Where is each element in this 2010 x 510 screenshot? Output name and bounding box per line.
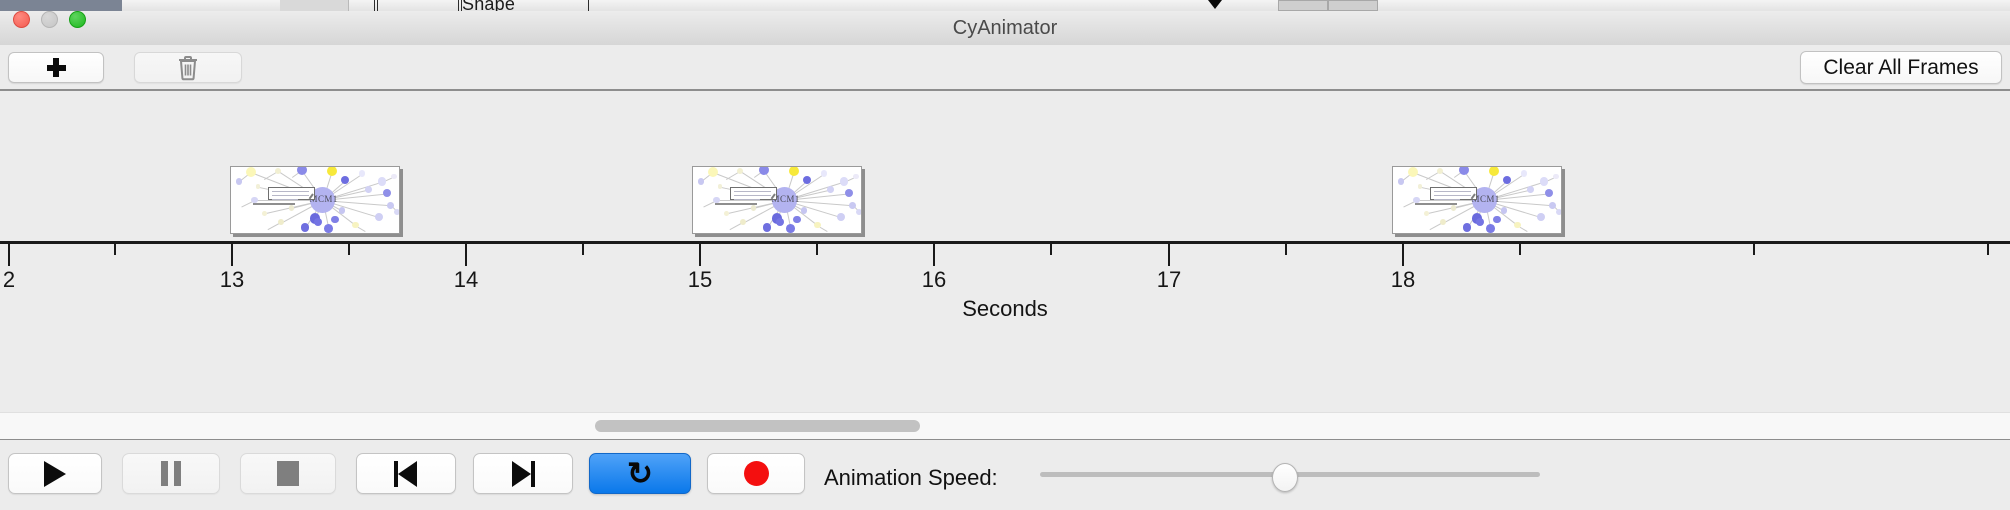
graph-node (801, 207, 808, 214)
background-window-divider (458, 0, 459, 11)
ruler-tick-label: 18 (1391, 267, 1415, 293)
graph-node (391, 174, 396, 179)
annotation-text-line (272, 195, 309, 197)
playback-bar: ↻ Animation Speed: (0, 440, 2010, 510)
background-window-tab (314, 0, 349, 11)
graph-node (751, 205, 756, 210)
graph-node (1486, 224, 1495, 233)
graph-node (275, 168, 281, 174)
loop-button[interactable]: ↻ (589, 453, 691, 494)
graph-node (1521, 170, 1528, 177)
graph-node (378, 177, 386, 185)
graph-node (327, 166, 337, 176)
graph-node (352, 222, 359, 229)
ruler-tick-major (699, 244, 701, 266)
graph-node (1549, 202, 1556, 209)
graph-node (698, 178, 704, 184)
ruler-tick-label: 2 (3, 267, 15, 293)
graph-node (1514, 222, 1521, 229)
annotation-text-line (734, 195, 771, 197)
skip-back-icon (394, 461, 418, 487)
graph-node (1501, 207, 1508, 214)
timeline-panel[interactable]: MCM1MCM1MCM1 2131415161718 Seconds (0, 91, 2010, 412)
graph-node (814, 222, 821, 229)
ruler-tick-major (933, 244, 935, 266)
graph-node (251, 197, 257, 203)
graph-node (1493, 216, 1500, 223)
graph-caption (715, 203, 757, 205)
annotation-text-line (1434, 199, 1460, 201)
graph-node (331, 216, 338, 223)
clear-all-frames-label: Clear All Frames (1823, 56, 1978, 80)
graph-node (1463, 223, 1472, 232)
graph-node (1459, 166, 1469, 175)
annotation-text-line (1434, 191, 1471, 193)
graph-node (853, 174, 858, 179)
skip-forward-icon (511, 461, 535, 487)
stop-button[interactable] (240, 453, 336, 494)
graph-node (383, 189, 391, 197)
ruler-baseline (0, 241, 2010, 244)
ruler-tick-major (465, 244, 467, 266)
graph-node (840, 177, 848, 185)
graph-node (324, 224, 333, 233)
scrollbar-thumb[interactable] (595, 420, 920, 432)
cyanimator-window: Shape CyAnimator Clear All Frames (0, 0, 2010, 510)
background-window-box (1328, 0, 1378, 11)
graph-node (1476, 218, 1484, 226)
keyframe-thumbnail[interactable]: MCM1 (1392, 166, 1562, 234)
graph-node (246, 167, 256, 177)
pause-button[interactable] (122, 453, 220, 494)
background-window-divider (377, 0, 378, 11)
background-window-divider (588, 0, 589, 11)
background-window-strip: Shape (0, 0, 2010, 11)
graph-node (1527, 186, 1534, 193)
graph-node (786, 224, 795, 233)
pause-icon (161, 461, 181, 486)
graph-node (821, 170, 828, 177)
graph-node (827, 186, 834, 193)
graph-node (837, 213, 845, 221)
ruler-tick-label: 16 (922, 267, 946, 293)
record-button[interactable] (707, 453, 805, 494)
graph-node (708, 167, 718, 177)
graph-caption (253, 203, 295, 205)
graph-node (856, 209, 862, 215)
graph-node (1418, 184, 1423, 189)
graph-node (359, 170, 366, 177)
graph-node (339, 207, 346, 214)
animation-speed-label: Animation Speed: (824, 465, 998, 491)
graph-node (1545, 189, 1553, 197)
animation-speed-slider-thumb[interactable] (1272, 463, 1298, 492)
annotation-text-line (734, 199, 760, 201)
minimize-button[interactable] (41, 11, 58, 28)
annotation-text-line (1434, 195, 1471, 197)
graph-node (387, 202, 394, 209)
graph-node (1398, 178, 1404, 184)
graph-node (375, 213, 383, 221)
graph-node (737, 168, 743, 174)
graph-node (724, 211, 729, 216)
ruler-tick-major (8, 244, 10, 266)
frames-toolbar: Clear All Frames (0, 45, 2010, 91)
window-controls (13, 11, 86, 28)
play-icon (44, 461, 66, 487)
background-window-label: Shape (462, 0, 515, 11)
graph-node (713, 197, 719, 203)
network-graph: MCM1 (1393, 167, 1561, 233)
graph-node (793, 216, 800, 223)
graph-node (314, 218, 322, 226)
ruler-tick-minor (1050, 244, 1052, 255)
graph-node (1553, 174, 1558, 179)
trash-icon (177, 55, 199, 81)
graph-node (278, 219, 284, 225)
graph-node (845, 189, 853, 197)
graph-node (236, 178, 242, 184)
background-window-sidebar (0, 0, 122, 11)
graph-node (740, 219, 746, 225)
ruler-tick-minor (1519, 244, 1521, 255)
graph-node (1437, 168, 1443, 174)
graph-node (1540, 177, 1548, 185)
annotation-text-line (272, 191, 309, 193)
graph-caption (1415, 203, 1457, 205)
graph-node (789, 166, 799, 176)
loop-icon: ↻ (627, 458, 653, 489)
skip-back-button[interactable] (356, 453, 456, 494)
record-icon (744, 461, 769, 486)
close-button[interactable] (13, 11, 30, 28)
ruler-tick-minor (816, 244, 818, 255)
keyframe-thumbnail[interactable]: MCM1 (692, 166, 862, 234)
network-graph: MCM1 (231, 167, 399, 233)
stop-icon (277, 461, 299, 486)
title-bar: CyAnimator (0, 11, 2010, 46)
graph-node (1451, 205, 1456, 210)
ruler-tick-minor (1987, 244, 1989, 255)
graph-node (1537, 213, 1545, 221)
graph-node (763, 223, 772, 232)
graph-node (776, 218, 784, 226)
timeline-scrollbar[interactable] (0, 412, 2010, 441)
background-window-divider (374, 0, 375, 11)
graph-node (365, 186, 372, 193)
graph-node (297, 166, 307, 175)
graph-node (1413, 197, 1419, 203)
graph-node (1424, 211, 1429, 216)
graph-node (759, 166, 769, 175)
ruler-tick-label: 13 (220, 267, 244, 293)
graph-node (301, 223, 310, 232)
graph-node (262, 211, 267, 216)
annotation-text-line (272, 199, 298, 201)
background-window-box (1278, 0, 1328, 11)
keyframe-thumbnail[interactable]: MCM1 (230, 166, 400, 234)
delete-frame-button[interactable] (134, 52, 242, 83)
ruler-tick-minor (1753, 244, 1755, 255)
window-title: CyAnimator (0, 11, 2010, 45)
plus-icon (47, 58, 66, 77)
ruler-tick-minor (582, 244, 584, 255)
ruler-tick-major (231, 244, 233, 266)
annotation-text-line (734, 191, 771, 193)
add-frame-button[interactable] (8, 52, 104, 83)
zoom-button[interactable] (69, 11, 86, 28)
skip-forward-button[interactable] (473, 453, 573, 494)
ruler-tick-label: 15 (688, 267, 712, 293)
graph-node (394, 209, 400, 215)
graph-node (1556, 209, 1562, 215)
graph-node (1408, 167, 1418, 177)
play-button[interactable] (8, 453, 102, 494)
background-window-tab (280, 0, 315, 11)
ruler-tick-minor (114, 244, 116, 255)
clear-all-frames-button[interactable]: Clear All Frames (1800, 51, 2002, 84)
axis-title: Seconds (0, 296, 2010, 322)
graph-node (849, 202, 856, 209)
graph-node (718, 184, 723, 189)
graph-node (289, 205, 294, 210)
background-caret-icon (1208, 0, 1222, 9)
ruler-tick-major (1168, 244, 1170, 266)
ruler-tick-label: 17 (1157, 267, 1181, 293)
ruler-tick-minor (1285, 244, 1287, 255)
network-graph: MCM1 (693, 167, 861, 233)
graph-node (256, 184, 261, 189)
graph-node (1440, 219, 1446, 225)
graph-node (1489, 166, 1499, 176)
ruler-tick-label: 14 (454, 267, 478, 293)
ruler-tick-major (1402, 244, 1404, 266)
ruler-tick-minor (348, 244, 350, 255)
